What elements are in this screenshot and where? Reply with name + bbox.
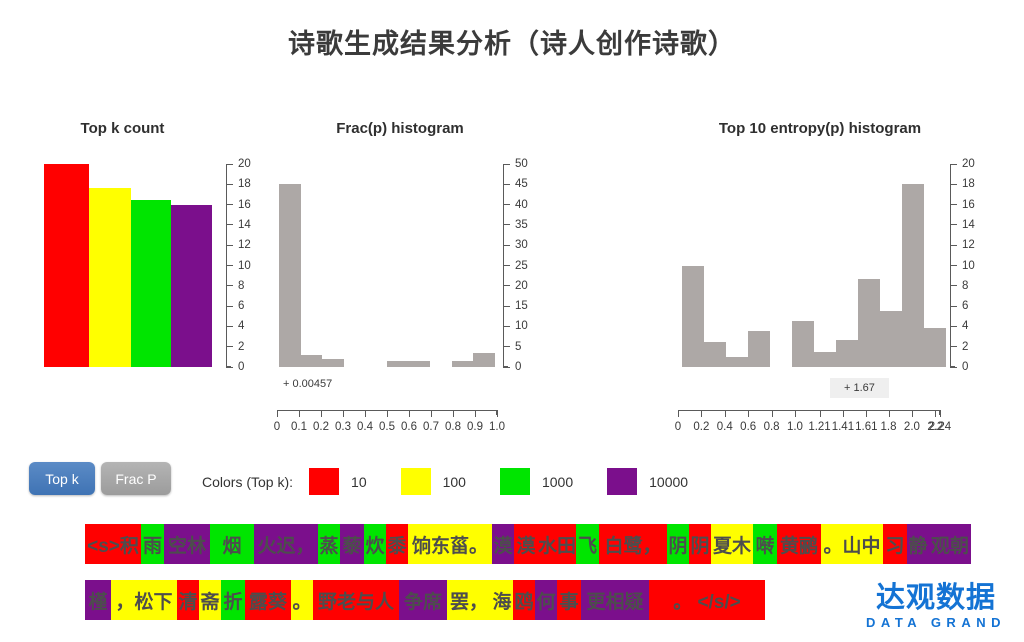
x-axis-label: 0.1 [291, 421, 307, 433]
x-axis-label: 0 [274, 421, 280, 433]
y-axis-tick [950, 265, 957, 266]
y-axis-tick [950, 245, 957, 246]
x-axis-label: 0 [675, 421, 681, 433]
x-axis-label: 1.41 [832, 421, 854, 433]
y-axis-tick [226, 245, 233, 246]
y-axis-tick [503, 326, 510, 327]
x-axis-label: 0.2 [693, 421, 709, 433]
y-axis-label: 2 [962, 341, 968, 353]
token-cell: ，松下 [111, 580, 177, 620]
bar [171, 205, 212, 367]
bar [836, 340, 858, 367]
y-axis-tick [226, 184, 233, 185]
chart-title: Frac(p) histogram [265, 120, 535, 137]
x-axis-tick [889, 410, 890, 417]
chart-top10-entropy-histogram: Top 10 entropy(p) histogram 024681012141… [660, 120, 1000, 440]
token-cell: 。 </s/> [649, 580, 765, 620]
x-axis-tick [843, 410, 844, 417]
x-axis-tick [912, 410, 913, 417]
x-axis-label: 0.8 [764, 421, 780, 433]
y-axis-tick [226, 367, 233, 368]
y-axis-tick [503, 367, 510, 368]
token-cell: 鸥 [513, 580, 535, 620]
y-axis-label: 14 [962, 219, 975, 231]
token-cell: 雨 [141, 524, 164, 564]
x-axis-label: 1.0 [787, 421, 803, 433]
y-axis-tick [226, 306, 233, 307]
x-axis-tick [866, 410, 867, 417]
x-axis-label: 0.5 [379, 421, 395, 433]
plot-area [44, 164, 212, 367]
plot-area [682, 164, 936, 367]
token-cell: 白鹭， [599, 524, 667, 564]
token-cell: 夏木 [711, 524, 753, 564]
y-axis-tick [503, 306, 510, 307]
y-axis-label: 6 [962, 300, 968, 312]
bar [44, 164, 89, 367]
y-axis-label: 2 [238, 341, 244, 353]
token-cell: 海 [491, 580, 513, 620]
token-cell: 蒸 [318, 524, 340, 564]
bar [924, 328, 946, 367]
x-axis-tick [431, 410, 432, 417]
token-cell: 野老与人 [313, 580, 399, 620]
token-cell: 飞 [576, 524, 599, 564]
y-axis-label: 18 [962, 178, 975, 190]
x-axis-tick [321, 410, 322, 417]
token-cell: 藜 [340, 524, 364, 564]
chart-title: Top k count [30, 120, 215, 137]
x-axis-label: 0.3 [335, 421, 351, 433]
legend-swatch [309, 468, 339, 495]
y-axis-tick [226, 265, 233, 266]
token-cell: 事 [557, 580, 581, 620]
x-axis-tick [497, 410, 498, 417]
x-axis-tick [475, 410, 476, 417]
y-axis-tick [503, 285, 510, 286]
x-axis-label: 0.9 [467, 421, 483, 433]
token-cell: 饷东菑。 [408, 524, 492, 564]
legend-label: 10 [351, 474, 367, 490]
plot-area [279, 164, 495, 367]
x-axis-label: 0.6 [401, 421, 417, 433]
bar [726, 357, 748, 367]
x-axis-label: 0.4 [357, 421, 373, 433]
y-axis-label: 20 [238, 158, 251, 170]
token-cell: 阴 [689, 524, 711, 564]
y-axis-tick [950, 224, 957, 225]
legend-swatch [401, 468, 431, 495]
token-cell: 黄鹂 [777, 524, 821, 564]
x-axis-label: 1.21 [808, 421, 830, 433]
logo-en-text: DATA GRAND [866, 615, 1006, 630]
y-axis-tick [503, 164, 510, 165]
x-axis-tick [701, 410, 702, 417]
x-axis-tick [725, 410, 726, 417]
token-cell: 折 [221, 580, 245, 620]
y-axis-label: 45 [515, 178, 528, 190]
y-axis-label: 25 [515, 260, 528, 272]
token-cell: <s>积 [85, 524, 141, 564]
y-axis-tick [226, 285, 233, 286]
bar [704, 342, 726, 367]
y-axis-tick [503, 204, 510, 205]
y-axis-tick [226, 204, 233, 205]
y-axis-label: 10 [515, 320, 528, 332]
token-strip-line-1: <s>积雨空林烟火迟，蒸藜炊黍饷东菑。漠漠水田飞白鹭，阴阴夏木啭黄鹂。山中习静观… [85, 524, 971, 564]
token-strip-line-2: 槿，松下清斋折露葵。野老与人争席罢，海鸥何事更相疑。 </s/> [85, 580, 765, 620]
legend-caption: Colors (Top k): [202, 474, 293, 490]
legend-label: 100 [443, 474, 466, 490]
y-axis-tick [503, 265, 510, 266]
y-axis-tick [503, 245, 510, 246]
bar [858, 279, 880, 367]
x-axis-label: 0.2 [313, 421, 329, 433]
legend-item: 10000 [607, 468, 688, 495]
y-axis-label: 14 [238, 219, 251, 231]
logo-cn-text: 达观数据 [866, 583, 1006, 613]
token-cell: 阴 [667, 524, 689, 564]
bar [89, 188, 131, 367]
bar [473, 353, 495, 367]
y-axis-label: 8 [962, 280, 968, 292]
x-offset-note: + 1.67 [830, 378, 889, 398]
bar-group [44, 164, 212, 367]
x-axis-tick [409, 410, 410, 417]
y-axis-label: 20 [962, 158, 975, 170]
y-axis-label: 4 [238, 320, 244, 332]
token-cell: 烟 [210, 524, 254, 564]
token-cell: 啭 [753, 524, 777, 564]
y-axis-tick [950, 367, 957, 368]
y-axis-label: 0 [238, 361, 244, 373]
y-axis-label: 50 [515, 158, 528, 170]
x-axis-label: 1.61 [855, 421, 877, 433]
bar-group [279, 164, 495, 367]
y-axis-label: 40 [515, 199, 528, 211]
y-axis-label: 12 [238, 239, 251, 251]
chart-title: Top 10 entropy(p) histogram [660, 120, 980, 137]
bar [409, 361, 431, 367]
y-axis-tick [226, 164, 233, 165]
legend-swatch [500, 468, 530, 495]
bar [748, 331, 770, 367]
x-axis-tick [387, 410, 388, 417]
tab-top-k[interactable]: Top k [29, 462, 95, 495]
y-axis-tick [950, 306, 957, 307]
y-axis-label: 15 [515, 300, 528, 312]
token-cell: 习 [883, 524, 907, 564]
token-cell: 斋 [199, 580, 221, 620]
bar [792, 321, 814, 367]
x-axis-tick [299, 410, 300, 417]
token-cell: 清 [177, 580, 199, 620]
y-axis-label: 0 [962, 361, 968, 373]
y-axis-label: 8 [238, 280, 244, 292]
x-axis-tick [820, 410, 821, 417]
y-axis-label: 10 [238, 260, 251, 272]
y-axis-tick [226, 326, 233, 327]
x-axis-tick [940, 410, 941, 417]
x-axis-tick [935, 410, 936, 417]
x-axis-tick [343, 410, 344, 417]
x-axis-label: 0.4 [717, 421, 733, 433]
bar [682, 266, 704, 368]
x-axis-tick [772, 410, 773, 417]
y-axis-tick [226, 346, 233, 347]
token-cell: 观朝 [929, 524, 971, 564]
bar [387, 361, 409, 367]
y-axis-tick [950, 164, 957, 165]
token-cell: 空林 [164, 524, 210, 564]
bar [322, 359, 344, 367]
chart-topk-count: Top k count 02468101214161820 [30, 120, 265, 380]
y-axis-tick [950, 285, 957, 286]
bar [279, 184, 301, 367]
chart-frac-p-histogram: Frac(p) histogram 05101520253035404550 +… [265, 120, 555, 440]
bar [131, 200, 171, 367]
token-cell: 。山中 [821, 524, 883, 564]
y-axis-label: 16 [238, 199, 251, 211]
token-cell: 。 [291, 580, 313, 620]
x-offset-note: + 0.00457 [283, 378, 332, 390]
x-axis-label: 1.0 [489, 421, 505, 433]
y-axis-tick [226, 224, 233, 225]
legend-item: 1000 [500, 468, 573, 495]
y-axis-tick [950, 346, 957, 347]
tab-frac-p[interactable]: Frac P [101, 462, 171, 495]
y-axis-label: 16 [962, 199, 975, 211]
bar [301, 355, 323, 367]
x-axis-label: 2.0 [904, 421, 920, 433]
legend-label: 1000 [542, 474, 573, 490]
y-axis-label: 6 [238, 300, 244, 312]
y-axis-tick [950, 204, 957, 205]
bar [452, 361, 474, 367]
y-axis-label: 10 [962, 260, 975, 272]
y-axis-tick [503, 184, 510, 185]
legend-item: 10 [309, 468, 367, 495]
y-axis-tick [950, 184, 957, 185]
token-cell: 罢， [447, 580, 491, 620]
x-axis-label: 0.8 [445, 421, 461, 433]
legend: Colors (Top k): 10100100010000 [202, 468, 722, 495]
x-axis-tick [795, 410, 796, 417]
token-cell: 漠 [492, 524, 514, 564]
token-cell: 更相疑 [581, 580, 649, 620]
x-axis-label: 0.7 [423, 421, 439, 433]
legend-item: 100 [401, 468, 466, 495]
x-axis-label: 2.24 [929, 421, 951, 433]
y-axis-tick [503, 224, 510, 225]
token-cell: 槿 [85, 580, 111, 620]
token-cell: 何 [535, 580, 557, 620]
tab-top-k-label: Top k [45, 471, 78, 487]
tab-frac-p-label: Frac P [115, 471, 156, 487]
x-axis-label: 1.8 [881, 421, 897, 433]
y-axis-label: 5 [515, 341, 521, 353]
x-axis-tick [277, 410, 278, 417]
token-cell: 水田 [538, 524, 576, 564]
logo: 达观数据 DATA GRAND [866, 583, 1006, 630]
x-axis-tick [453, 410, 454, 417]
y-axis-label: 4 [962, 320, 968, 332]
token-cell: 静 [907, 524, 929, 564]
token-cell: 争席 [399, 580, 447, 620]
y-axis-label: 0 [515, 361, 521, 373]
legend-swatch [607, 468, 637, 495]
token-cell: 黍 [386, 524, 408, 564]
y-axis-label: 20 [515, 280, 528, 292]
page-title: 诗歌生成结果分析（诗人创作诗歌） [0, 22, 1024, 61]
bar [880, 311, 902, 367]
token-cell: 漠 [514, 524, 538, 564]
token-cell: 火迟， [254, 524, 318, 564]
y-axis-label: 18 [238, 178, 251, 190]
x-axis-tick [365, 410, 366, 417]
y-axis-tick [950, 326, 957, 327]
x-axis-tick [678, 410, 679, 417]
y-axis-label: 35 [515, 219, 528, 231]
token-cell: 露葵 [245, 580, 291, 620]
bar-group [682, 164, 946, 367]
y-axis-label: 12 [962, 239, 975, 251]
x-axis-tick [748, 410, 749, 417]
bar [814, 352, 836, 367]
y-axis-tick [503, 346, 510, 347]
bar [902, 184, 924, 367]
x-axis-label: 0.6 [740, 421, 756, 433]
token-cell: 炊 [364, 524, 386, 564]
legend-label: 10000 [649, 474, 688, 490]
y-axis-label: 30 [515, 239, 528, 251]
